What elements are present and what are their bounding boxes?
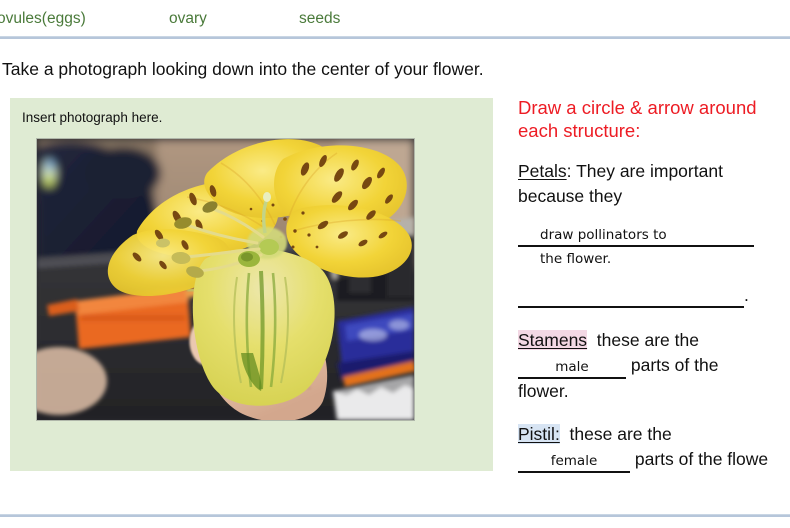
petals-trailing-period: . bbox=[744, 285, 749, 305]
term-petals: Petals bbox=[518, 161, 567, 181]
stamens-prompt: these are the bbox=[597, 330, 699, 350]
vocabulary-strip: ovules(eggs) ovary seeds bbox=[0, 9, 790, 33]
question-block-stamens: Stamens these are the male parts of the … bbox=[518, 328, 790, 404]
photo-placeholder-label: Insert photograph here. bbox=[22, 109, 162, 126]
draw-instruction-heading: Draw a circle & arrow around each struct… bbox=[518, 96, 766, 142]
petals-prompt: They are important bbox=[576, 161, 723, 181]
petals-answer-field[interactable]: draw pollinators to bbox=[518, 226, 754, 247]
instruction-text: Take a photograph looking down into the … bbox=[2, 58, 484, 80]
petals-prompt-line1: Petals: They are important bbox=[518, 159, 790, 184]
photo-panel: Insert photograph here. bbox=[10, 98, 493, 471]
divider-top bbox=[0, 36, 790, 39]
question-block-pistil: Pistil: these are the female parts of th… bbox=[518, 422, 790, 473]
stamens-prompt-line3: flower. bbox=[518, 379, 790, 404]
question-block-petals: Petals: They are important because they … bbox=[518, 159, 790, 308]
petals-blank-field[interactable] bbox=[518, 292, 744, 308]
pistil-answer-field[interactable]: female bbox=[518, 452, 630, 473]
vocab-word-ovules: ovules(eggs) bbox=[0, 9, 86, 29]
petals-answer-overflow-row: the flower. bbox=[518, 247, 790, 269]
term-pistil: Pistil: bbox=[518, 424, 560, 444]
pistil-answer-row: female parts of the flowe bbox=[518, 447, 790, 473]
divider-bottom bbox=[0, 514, 790, 517]
vocab-word-ovary: ovary bbox=[169, 9, 207, 29]
pistil-prompt-after: parts of the flowe bbox=[635, 449, 768, 469]
stamens-prompt-after: parts of the bbox=[631, 355, 719, 375]
flower-photograph bbox=[37, 139, 414, 420]
vocab-word-seeds: seeds bbox=[299, 9, 340, 29]
flower-photo-graphic bbox=[37, 139, 414, 420]
stamens-answer-row: male parts of the bbox=[518, 353, 790, 379]
stamens-prompt-line1: Stamens these are the bbox=[518, 328, 790, 353]
term-stamens: Stamens bbox=[518, 330, 587, 350]
stamens-answer-field[interactable]: male bbox=[518, 358, 626, 379]
petals-answer-overflow: the flower. bbox=[518, 251, 611, 267]
petals-prompt-line2: because they bbox=[518, 184, 790, 209]
pistil-prompt-line1: Pistil: these are the bbox=[518, 422, 790, 447]
petals-blank-row: . bbox=[518, 283, 790, 308]
petals-answer-row: draw pollinators to bbox=[518, 221, 790, 247]
petals-colon: : bbox=[567, 161, 576, 181]
pistil-prompt: these are the bbox=[570, 424, 672, 444]
worksheet-column: Draw a circle & arrow around each struct… bbox=[518, 96, 790, 473]
